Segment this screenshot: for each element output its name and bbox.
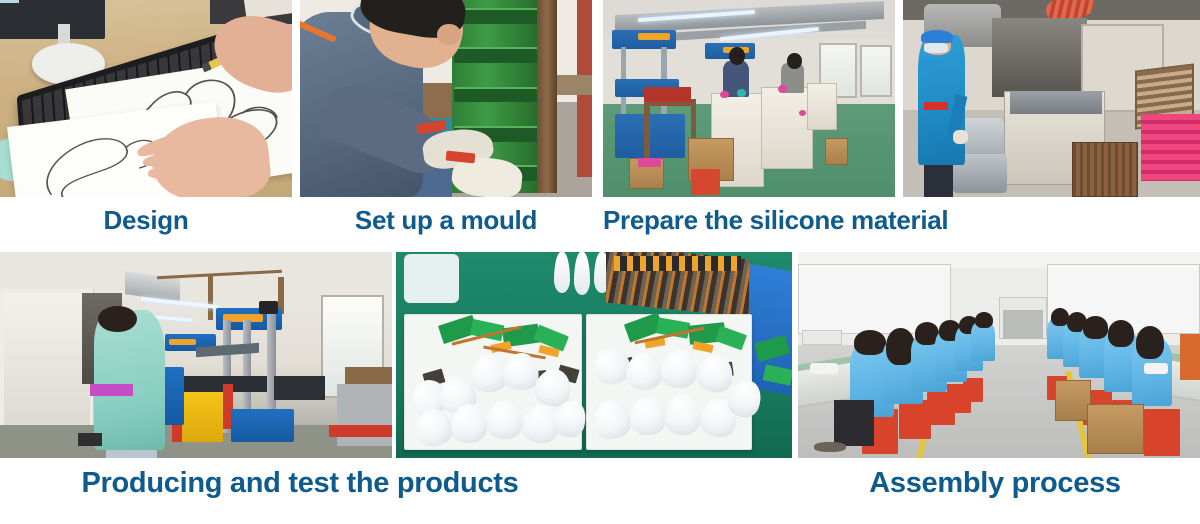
products-photo [396,252,792,458]
worker-trousers [834,400,874,445]
product-in-hand [1144,363,1168,373]
wooden-post [537,0,557,193]
red-stool [691,169,720,195]
hanging-cloth [1180,334,1200,379]
process-row-2: Producing and test the products Assembly… [0,252,1200,524]
blue-cap [921,30,954,44]
monitor [0,0,105,39]
red-stool [899,400,931,439]
caption-assembly: Assembly process [790,467,1200,500]
operator-glove [953,130,968,144]
panel-mould[interactable] [300,0,592,197]
shirt-orange-stripe [300,17,337,43]
panel-producing[interactable] [0,252,392,458]
panel-silicone-machine[interactable] [903,0,1200,197]
window [860,45,892,96]
panel-products[interactable] [396,252,792,458]
machine-motor [274,376,325,401]
pink-crates [1141,114,1200,181]
cardboard-box [825,138,848,166]
extraction-hood [992,18,1087,97]
finger [148,167,195,179]
machine-conveyor [1010,91,1102,115]
panel-silicone-workshop[interactable] [603,0,895,197]
product-pink [638,158,661,168]
pcb-row-amber [614,256,741,270]
product-teal [737,89,746,97]
panel-design[interactable] [0,0,292,197]
product-pink [720,91,729,99]
silicone-machine-photo [903,0,1200,197]
caption-producing: Producing and test the products [0,467,600,500]
red-stool [1144,409,1180,456]
panel-assembly[interactable] [798,252,1200,458]
caption-mould: Set up a mould [300,205,592,236]
worker-head [787,53,802,69]
cardboard-box [1055,380,1091,421]
worker-sandal [814,442,846,452]
worker-hair [975,312,993,328]
cart-handle [329,425,392,437]
brown-panels [1072,142,1137,197]
white-silicone-shell [574,252,590,295]
press-cap [259,301,279,313]
overhead-pipe [208,275,213,320]
work-table [807,83,836,130]
worker-hair [1083,316,1107,339]
silicone-bulb [629,396,666,436]
caption-design: Design [0,205,292,236]
process-row-1: Design Set up a mould Prepare the silico… [0,0,1200,250]
process-infographic: Design Set up a mould Prepare the silico… [0,0,1200,524]
mould-plate [454,8,538,24]
mould-plate [454,87,538,103]
press-base [231,409,294,442]
silicone-workshop-photo [603,0,895,197]
monitor-screen [0,0,19,3]
face-mask [924,43,948,53]
product-in-hand [810,363,838,373]
caption-silicone: Prepare the silicone material [603,205,895,236]
worker-hair [1108,320,1134,347]
poly-bag-of-parts [404,254,459,303]
side-bench [551,75,592,95]
press-mould-bed [172,376,266,392]
back-table [1003,310,1043,339]
worker-head [729,47,745,65]
press-base [615,114,685,157]
assembly-photo [798,252,1200,458]
worker-shirt [94,310,165,450]
white-silicone-shell [554,252,570,293]
worker-hair [854,330,886,355]
rack-frame [644,102,697,105]
cardboard-box [1087,404,1143,453]
worker-ear [437,24,460,46]
producing-photo [0,252,392,458]
press-brand-label [169,339,196,345]
design-photo [0,0,292,197]
red-item [924,102,948,110]
worker-shoe [78,433,102,445]
product-pink [778,85,787,93]
work-table [761,87,814,170]
purple-product-tray [90,384,133,396]
press-brand-label [638,33,670,40]
worker-hair [1136,326,1164,359]
mould-photo [300,0,592,197]
mould-plate [454,47,538,63]
bench-equipment [802,330,842,344]
